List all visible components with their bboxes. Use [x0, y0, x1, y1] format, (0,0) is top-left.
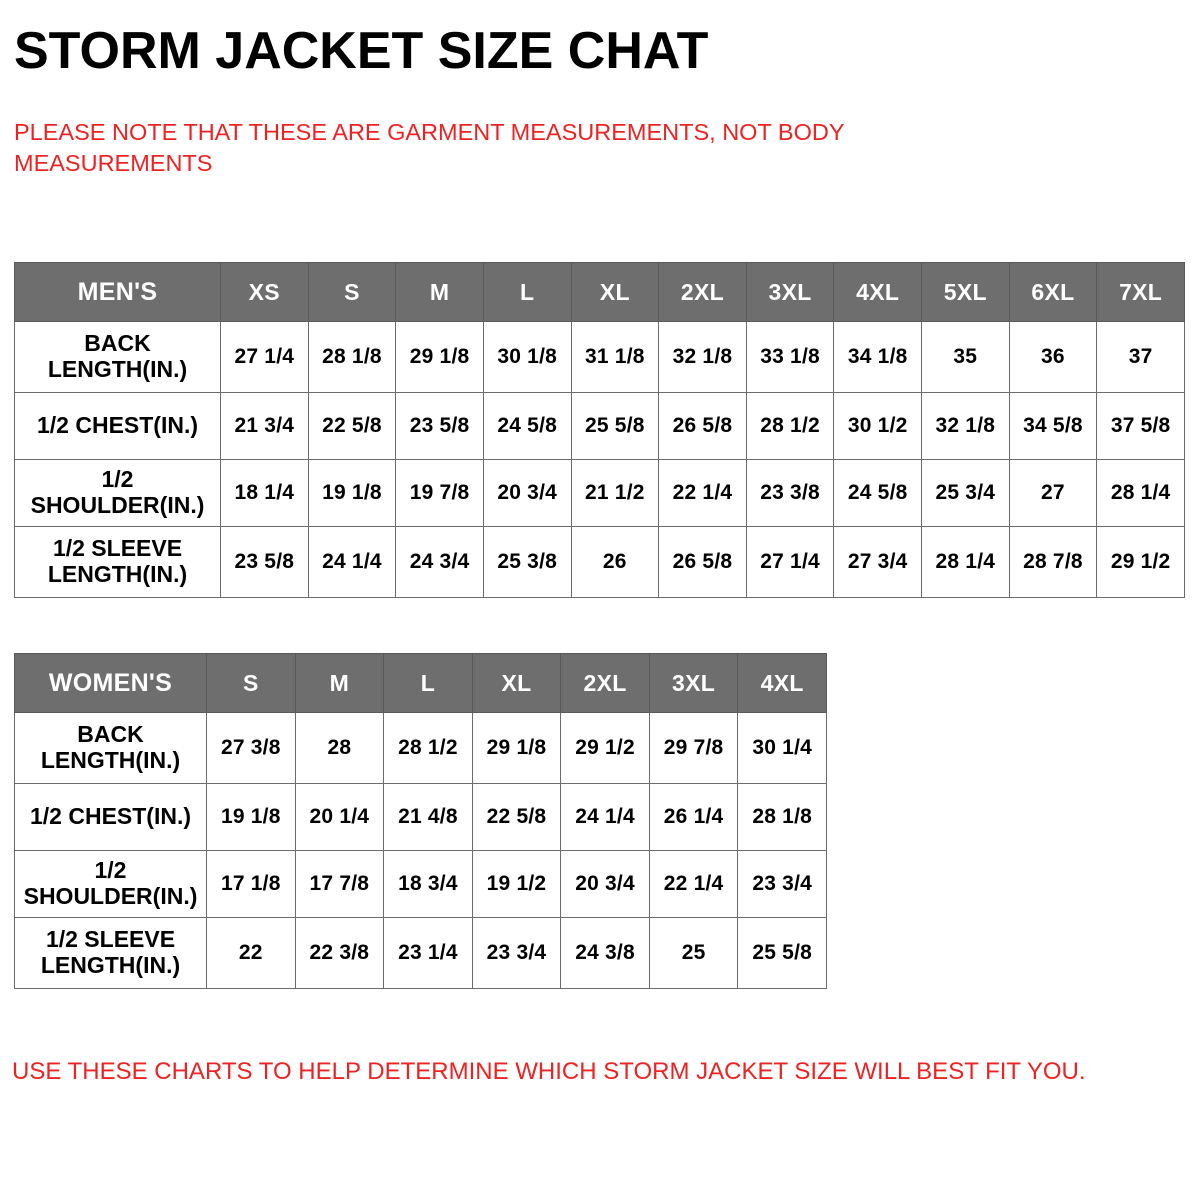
measurement-cell: 27 1/4 — [221, 322, 309, 393]
measurement-cell: 32 1/8 — [922, 393, 1010, 460]
measurement-cell: 34 5/8 — [1009, 393, 1097, 460]
measurement-cell: 30 1/2 — [834, 393, 922, 460]
measurement-cell: 29 1/2 — [1097, 527, 1185, 598]
measurement-cell: 31 1/8 — [571, 322, 659, 393]
measurement-cell: 28 1/4 — [922, 527, 1010, 598]
womens-size-header-xl: XL — [472, 654, 561, 713]
measurement-label-line1: 1/2 SLEEVE — [53, 535, 182, 561]
measurement-cell: 23 5/8 — [396, 393, 484, 460]
measurement-cell: 19 1/8 — [308, 460, 396, 527]
mens-size-header-m: M — [396, 263, 484, 322]
measurement-cell: 28 7/8 — [1009, 527, 1097, 598]
table-row: 1/2 CHEST(IN.)19 1/820 1/421 4/822 5/824… — [15, 784, 827, 851]
table-row: 1/2 SHOULDER(IN.)17 1/817 7/818 3/419 1/… — [15, 851, 827, 918]
size-help-note: USE THESE CHARTS TO HELP DETERMINE WHICH… — [12, 1058, 1192, 1086]
measurement-label-line1: 1/2 CHEST(IN.) — [30, 803, 191, 829]
measurement-cell: 23 5/8 — [221, 527, 309, 598]
mens-size-header-l: L — [483, 263, 571, 322]
measurement-cell: 23 3/4 — [472, 918, 561, 989]
womens-measurement-label: BACKLENGTH(IN.) — [15, 713, 207, 784]
mens-size-header-s: S — [308, 263, 396, 322]
table-row: 1/2 SHOULDER(IN.)18 1/419 1/819 7/820 3/… — [15, 460, 1185, 527]
measurement-cell: 26 — [571, 527, 659, 598]
mens-size-header-xl: XL — [571, 263, 659, 322]
measurement-cell: 37 — [1097, 322, 1185, 393]
mens-size-header-5xl: 5XL — [922, 263, 1010, 322]
measurement-cell: 22 5/8 — [308, 393, 396, 460]
measurement-label-line1: 1/2 SHOULDER(IN.) — [24, 857, 198, 909]
measurement-cell: 24 3/8 — [561, 918, 650, 989]
mens-corner-header: MEN'S — [15, 263, 221, 322]
womens-measurement-label: 1/2 CHEST(IN.) — [15, 784, 207, 851]
measurement-cell: 30 1/4 — [738, 713, 827, 784]
measurement-cell: 23 1/4 — [384, 918, 473, 989]
mens-size-header-4xl: 4XL — [834, 263, 922, 322]
mens-measurement-label: 1/2 SHOULDER(IN.) — [15, 460, 221, 527]
mens-size-header-7xl: 7XL — [1097, 263, 1185, 322]
measurement-cell: 20 3/4 — [561, 851, 650, 918]
measurement-cell: 19 1/2 — [472, 851, 561, 918]
womens-header-row: WOMEN'SSMLXL2XL3XL4XL — [15, 654, 827, 713]
mens-measurement-label: 1/2 CHEST(IN.) — [15, 393, 221, 460]
measurement-cell: 21 3/4 — [221, 393, 309, 460]
measurement-cell: 17 7/8 — [295, 851, 384, 918]
measurement-label-line1: 1/2 SLEEVE — [46, 926, 175, 952]
measurement-cell: 28 1/8 — [738, 784, 827, 851]
measurement-cell: 24 3/4 — [396, 527, 484, 598]
measurement-cell: 32 1/8 — [659, 322, 747, 393]
measurement-cell: 26 5/8 — [659, 393, 747, 460]
measurement-cell: 28 1/8 — [308, 322, 396, 393]
measurement-cell: 33 1/8 — [746, 322, 834, 393]
measurement-cell: 24 5/8 — [483, 393, 571, 460]
mens-measurement-label: BACKLENGTH(IN.) — [15, 322, 221, 393]
measurement-cell: 23 3/4 — [738, 851, 827, 918]
measurement-cell: 28 1/2 — [384, 713, 473, 784]
measurement-cell: 18 1/4 — [221, 460, 309, 527]
mens-size-table: MEN'SXSSMLXL2XL3XL4XL5XL6XL7XL BACKLENGT… — [14, 262, 1185, 598]
womens-table-body: BACKLENGTH(IN.)27 3/82828 1/229 1/829 1/… — [15, 713, 827, 989]
measurement-cell: 28 1/2 — [746, 393, 834, 460]
mens-size-header-6xl: 6XL — [1009, 263, 1097, 322]
table-row: BACKLENGTH(IN.)27 3/82828 1/229 1/829 1/… — [15, 713, 827, 784]
measurement-cell: 22 1/4 — [649, 851, 738, 918]
measurement-cell: 28 — [295, 713, 384, 784]
womens-size-header-s: S — [207, 654, 296, 713]
measurement-cell: 27 3/4 — [834, 527, 922, 598]
measurement-cell: 28 1/4 — [1097, 460, 1185, 527]
measurement-cell: 29 1/2 — [561, 713, 650, 784]
table-row: 1/2 SLEEVELENGTH(IN.)2222 3/823 1/423 3/… — [15, 918, 827, 989]
measurement-label-line1: 1/2 CHEST(IN.) — [37, 412, 198, 438]
measurement-cell: 22 5/8 — [472, 784, 561, 851]
womens-measurement-label: 1/2 SLEEVELENGTH(IN.) — [15, 918, 207, 989]
measurement-cell: 20 1/4 — [295, 784, 384, 851]
mens-table-header: MEN'SXSSMLXL2XL3XL4XL5XL6XL7XL — [15, 263, 1185, 322]
measurement-cell: 22 1/4 — [659, 460, 747, 527]
womens-size-header-m: M — [295, 654, 384, 713]
measurement-cell: 27 3/8 — [207, 713, 296, 784]
size-chart-page: STORM JACKET SIZE CHAT PLEASE NOTE THAT … — [0, 0, 1200, 1200]
measurement-cell: 17 1/8 — [207, 851, 296, 918]
measurement-cell: 26 5/8 — [659, 527, 747, 598]
womens-measurement-label: 1/2 SHOULDER(IN.) — [15, 851, 207, 918]
measurement-label-line2: LENGTH(IN.) — [48, 561, 187, 587]
mens-measurement-label: 1/2 SLEEVELENGTH(IN.) — [15, 527, 221, 598]
measurement-cell: 22 — [207, 918, 296, 989]
measurement-cell: 36 — [1009, 322, 1097, 393]
measurement-label-line2: LENGTH(IN.) — [41, 747, 180, 773]
measurement-label-line2: LENGTH(IN.) — [48, 356, 187, 382]
page-title: STORM JACKET SIZE CHAT — [14, 24, 708, 79]
measurement-label-line1: BACK — [84, 330, 150, 356]
measurement-cell: 27 1/4 — [746, 527, 834, 598]
measurement-cell: 34 1/8 — [834, 322, 922, 393]
measurement-cell: 25 5/8 — [738, 918, 827, 989]
measurement-cell: 24 5/8 — [834, 460, 922, 527]
measurement-cell: 25 — [649, 918, 738, 989]
measurement-cell: 21 4/8 — [384, 784, 473, 851]
mens-header-row: MEN'SXSSMLXL2XL3XL4XL5XL6XL7XL — [15, 263, 1185, 322]
measurement-cell: 35 — [922, 322, 1010, 393]
womens-size-header-l: L — [384, 654, 473, 713]
measurement-cell: 25 5/8 — [571, 393, 659, 460]
table-row: 1/2 SLEEVELENGTH(IN.)23 5/824 1/424 3/42… — [15, 527, 1185, 598]
measurement-cell: 30 1/8 — [483, 322, 571, 393]
measurement-cell: 20 3/4 — [483, 460, 571, 527]
measurement-cell: 29 1/8 — [472, 713, 561, 784]
measurement-cell: 19 7/8 — [396, 460, 484, 527]
measurement-cell: 29 1/8 — [396, 322, 484, 393]
measurement-cell: 25 3/4 — [922, 460, 1010, 527]
mens-size-header-3xl: 3XL — [746, 263, 834, 322]
measurement-cell: 18 3/4 — [384, 851, 473, 918]
measurement-cell: 22 3/8 — [295, 918, 384, 989]
mens-table-body: BACKLENGTH(IN.)27 1/428 1/829 1/830 1/83… — [15, 322, 1185, 598]
measurement-label-line1: BACK — [77, 721, 143, 747]
womens-size-table: WOMEN'SSMLXL2XL3XL4XL BACKLENGTH(IN.)27 … — [14, 653, 827, 989]
measurement-cell: 29 7/8 — [649, 713, 738, 784]
measurement-cell: 26 1/4 — [649, 784, 738, 851]
measurement-cell: 24 1/4 — [308, 527, 396, 598]
garment-measurement-note: PLEASE NOTE THAT THESE ARE GARMENT MEASU… — [14, 117, 974, 180]
mens-size-header-xs: XS — [221, 263, 309, 322]
measurement-cell: 19 1/8 — [207, 784, 296, 851]
measurement-cell: 25 3/8 — [483, 527, 571, 598]
womens-size-header-3xl: 3XL — [649, 654, 738, 713]
mens-size-header-2xl: 2XL — [659, 263, 747, 322]
womens-corner-header: WOMEN'S — [15, 654, 207, 713]
womens-table-header: WOMEN'SSMLXL2XL3XL4XL — [15, 654, 827, 713]
measurement-cell: 37 5/8 — [1097, 393, 1185, 460]
womens-size-header-2xl: 2XL — [561, 654, 650, 713]
measurement-cell: 24 1/4 — [561, 784, 650, 851]
measurement-cell: 27 — [1009, 460, 1097, 527]
measurement-cell: 21 1/2 — [571, 460, 659, 527]
measurement-label-line1: 1/2 SHOULDER(IN.) — [31, 466, 205, 518]
measurement-label-line2: LENGTH(IN.) — [41, 952, 180, 978]
table-row: 1/2 CHEST(IN.)21 3/422 5/823 5/824 5/825… — [15, 393, 1185, 460]
table-row: BACKLENGTH(IN.)27 1/428 1/829 1/830 1/83… — [15, 322, 1185, 393]
measurement-cell: 23 3/8 — [746, 460, 834, 527]
womens-size-header-4xl: 4XL — [738, 654, 827, 713]
